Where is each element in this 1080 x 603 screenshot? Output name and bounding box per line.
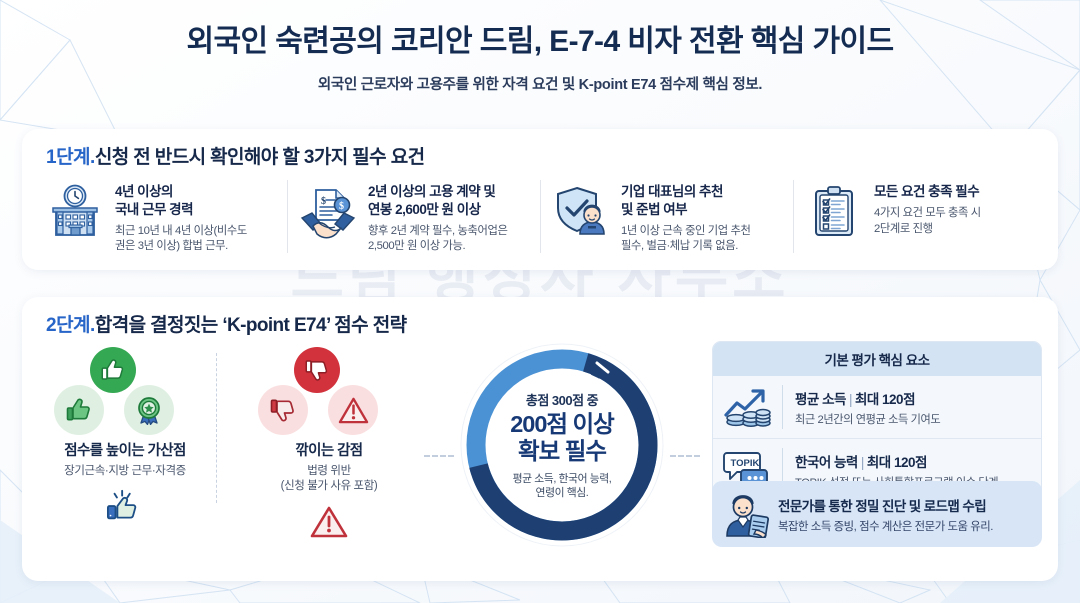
thumbs-down-icon — [294, 347, 340, 393]
expert-desc: 복잡한 소득 증빙, 점수 계산은 전문가 도움 유리. — [778, 518, 993, 534]
requirement-card: 모든 요건 충족 필수 4가지 요건 모두 충족 시 2단계로 진행 — [793, 178, 1046, 255]
thumbs-up-icon — [90, 347, 136, 393]
requirement-text: 기업 대표님의 추천 및 준법 여부 1년 이상 근속 중인 기업 추천 필수,… — [621, 182, 751, 255]
evaluation-factors-panel: 기본 평가 핵심 요소 — [712, 341, 1042, 502]
factor-title-line: 한국어 능력|최대 120점 — [795, 451, 998, 471]
page-title: 외국인 숙련공의 코리안 드림, E-7-4 비자 전환 핵심 가이드 — [0, 24, 1080, 60]
requirement-desc: 4가지 요건 모두 충족 시 2단계로 진행 — [874, 206, 981, 237]
requirement-title: 2년 이상의 고용 계약 및 연봉 2,600만 원 이상 — [368, 183, 508, 219]
consultant-person-icon — [720, 490, 770, 538]
factor-desc: 최근 2년간의 연평균 소득 기여도 — [795, 411, 940, 427]
factors-heading: 기본 평가 핵심 요소 — [713, 342, 1041, 376]
bonus-icon-cluster — [36, 347, 214, 439]
penalty-desc: 법령 위반 (신청 불가 사유 포함) — [240, 464, 418, 495]
building-clock-icon — [46, 182, 104, 240]
income-growth-icon — [722, 385, 772, 429]
requirement-text: 모든 요건 충족 필수 4가지 요건 모두 충족 시 2단계로 진행 — [874, 182, 981, 237]
requirement-text: 2년 이상의 고용 계약 및 연봉 2,600만 원 이상 향후 2년 계약 필… — [368, 182, 508, 255]
requirement-desc: 향후 2년 계약 필수, 농축어업은 2,500만 원 이상 가능. — [368, 224, 508, 255]
factor-row: 평균 소득|최대 120점 최근 2년간의 연평균 소득 기여도 — [713, 376, 1041, 438]
infographic-page: 외국인 숙련공의 코리안 드림, E-7-4 비자 전환 핵심 가이드 외국인 … — [0, 0, 1080, 603]
warning-triangle-icon — [328, 385, 378, 435]
requirement-card: 기업 대표님의 추천 및 준법 여부 1년 이상 근속 중인 기업 추천 필수,… — [540, 178, 793, 255]
bonus-title: 점수를 높이는 가산점 — [36, 439, 214, 460]
step2-body: 점수를 높이는 가산점 장기근속·지방 근무·자격증 — [22, 337, 1058, 573]
expert-consult-banner[interactable]: 전문가를 통한 정밀 진단 및 로드맵 수립 복잡한 소득 증빙, 점수 계산은… — [712, 481, 1042, 547]
expert-text: 전문가를 통한 정밀 진단 및 로드맵 수립 복잡한 소득 증빙, 점수 계산은… — [778, 495, 993, 534]
header: 외국인 숙련공의 코리안 드림, E-7-4 비자 전환 핵심 가이드 외국인 … — [0, 0, 1080, 94]
bonus-footer-icon-wrap — [36, 488, 214, 531]
bonus-points-block: 점수를 높이는 가산점 장기근속·지방 근무·자격증 — [36, 347, 214, 531]
requirement-card: $ $ 2년 이상의 고용 계약 및 연봉 2,600만 — [287, 178, 540, 255]
step1-heading-text: 신청 전 반드시 확인해야 할 3가지 필수 요건 — [95, 142, 425, 169]
connector-dashed-right — [670, 455, 700, 457]
step2-heading-text: 합격을 결정짓는 ‘K-point E74’ 점수 전략 — [95, 310, 407, 337]
step1-panel: 1단계. 신청 전 반드시 확인해야 할 3가지 필수 요건 — [22, 129, 1058, 270]
award-medal-icon — [124, 385, 174, 435]
factor-divider — [782, 385, 783, 429]
requirement-title: 모든 요건 충족 필수 — [874, 183, 981, 201]
step2-number: 2단계. — [46, 310, 95, 337]
connector-dashed-left — [424, 455, 454, 457]
score-donut-chart: 총점 300점 중 200점 이상 확보 필수 평균 소득, 한국어 능력, 연… — [456, 339, 668, 551]
donut-main-label: 200점 이상 확보 필수 — [510, 411, 614, 465]
factor-value: 최대 120점 — [867, 455, 927, 470]
factor-separator: | — [861, 455, 864, 470]
requirement-desc: 최근 10년 내 4년 이상(비수도 권은 3년 이상) 합법 근무. — [115, 224, 247, 255]
bonus-desc: 장기근속·지방 근무·자격증 — [36, 464, 214, 479]
thumbs-up-spark-icon — [103, 488, 147, 531]
step1-number: 1단계. — [46, 142, 95, 169]
requirements-row: 4년 이상의 국내 근무 경력 최근 10년 내 4년 이상(비수도 권은 3년… — [22, 178, 1058, 255]
factor-title-line: 평균 소득|최대 120점 — [795, 388, 940, 408]
factor-text: 평균 소득|최대 120점 최근 2년간의 연평균 소득 기여도 — [795, 388, 940, 427]
penalty-footer-icon-wrap — [240, 504, 418, 545]
expert-title: 전문가를 통한 정밀 진단 및 로드맵 수립 — [778, 495, 993, 515]
factor-value: 최대 120점 — [855, 392, 915, 407]
step1-heading: 1단계. 신청 전 반드시 확인해야 할 3가지 필수 요건 — [22, 129, 1058, 169]
requirement-title: 기업 대표님의 추천 및 준법 여부 — [621, 183, 751, 219]
page-subtitle: 외국인 근로자와 고용주를 위한 자격 요건 및 K-point E74 점수제… — [0, 73, 1080, 94]
donut-center-text: 총점 300점 중 200점 이상 확보 필수 평균 소득, 한국어 능력, 연… — [456, 339, 668, 551]
requirement-title: 4년 이상의 국내 근무 경력 — [115, 183, 247, 219]
factor-title: 평균 소득 — [795, 392, 846, 407]
step2-heading: 2단계. 합격을 결정짓는 ‘K-point E74’ 점수 전략 — [22, 297, 1058, 337]
thumbs-up-icon — [54, 385, 104, 435]
contract-handshake-icon: $ $ — [299, 182, 357, 240]
penalty-title: 깎이는 감점 — [240, 439, 418, 460]
requirement-text: 4년 이상의 국내 근무 경력 최근 10년 내 4년 이상(비수도 권은 3년… — [115, 182, 247, 255]
svg-text:TOPIK: TOPIK — [731, 458, 760, 469]
donut-top-label: 총점 300점 중 — [526, 390, 598, 409]
svg-text:$: $ — [321, 196, 326, 207]
warning-triangle-icon — [309, 504, 349, 545]
penalty-icon-cluster — [240, 347, 418, 439]
step2-panel: 2단계. 합격을 결정짓는 ‘K-point E74’ 점수 전략 — [22, 297, 1058, 581]
shield-person-icon — [552, 182, 610, 240]
requirement-card: 4년 이상의 국내 근무 경력 최근 10년 내 4년 이상(비수도 권은 3년… — [34, 178, 287, 255]
checklist-clipboard-icon — [805, 182, 863, 240]
thumbs-down-icon — [258, 385, 308, 435]
requirement-desc: 1년 이상 근속 중인 기업 추천 필수, 벌금·체납 기록 없음. — [621, 224, 751, 255]
penalty-points-block: 깎이는 감점 법령 위반 (신청 불가 사유 포함) — [240, 347, 418, 545]
donut-sub-label: 평균 소득, 한국어 능력, 연령이 핵심. — [513, 472, 612, 501]
factor-separator: | — [849, 392, 852, 407]
factor-title: 한국어 능력 — [795, 455, 858, 470]
svg-text:$: $ — [339, 201, 344, 212]
